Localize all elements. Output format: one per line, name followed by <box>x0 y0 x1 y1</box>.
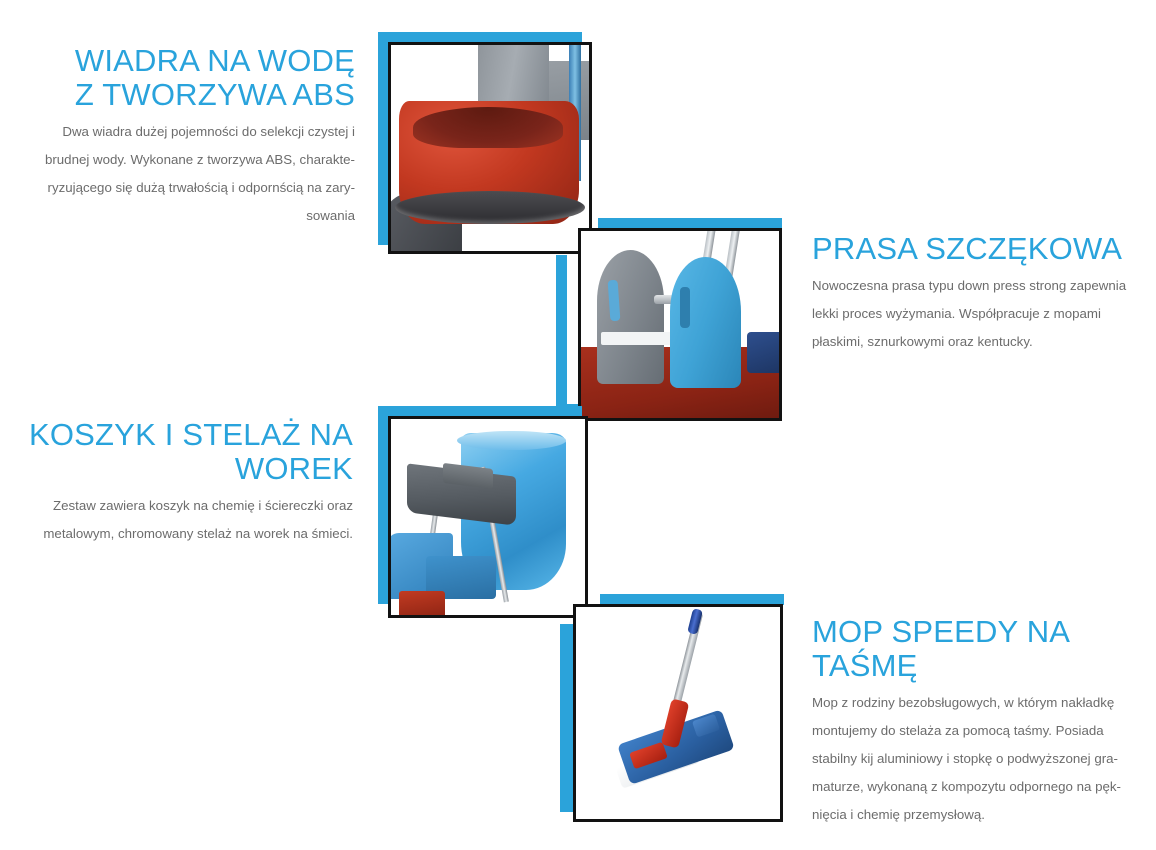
feature-body-press: Nowoczesna prasa typu down press strong … <box>812 272 1152 356</box>
feature-photo-frame-press <box>556 216 788 421</box>
feature-text-buckets: WIADRA NA WODĘ Z TWORZYWA ABS Dwa wiadra… <box>10 44 355 230</box>
feature-photo-frame-basket <box>372 404 594 619</box>
feature-title-press: PRASA SZCZĘKOWA <box>812 232 1152 266</box>
feature-title-buckets: WIADRA NA WODĘ Z TWORZYWA ABS <box>10 44 355 112</box>
press-grey-jaw <box>597 250 664 385</box>
feature-title-mop: MOP SPEEDY NA TAŚMĘ <box>812 615 1152 683</box>
feature-title-basket: KOSZYK I STELAŻ NA WOREK <box>8 418 353 486</box>
feature-body-basket: Zestaw zawiera koszyk na chemię i ściere… <box>8 492 353 548</box>
press-white-bar <box>601 332 680 345</box>
accent-bar-left <box>560 624 574 812</box>
feature-grid: WIADRA NA WODĘ Z TWORZYWA ABS Dwa wiadra… <box>0 0 1156 850</box>
feature-text-basket: KOSZYK I STELAŻ NA WOREK Zestaw zawiera … <box>8 418 353 548</box>
photo-speedy-tape-mop <box>573 604 783 822</box>
bucket-red-interior <box>413 107 563 148</box>
press-navy-bucket <box>747 332 782 373</box>
basket-red-bucket <box>399 591 446 618</box>
feature-body-mop: Mop z rodziny bezobsługowych, w którym n… <box>812 689 1152 829</box>
feature-text-press: PRASA SZCZĘKOWA Nowoczesna prasa typu do… <box>812 232 1152 356</box>
basket-bag-rim <box>457 431 566 451</box>
feature-photo-frame-mop <box>560 592 792 824</box>
feature-body-buckets: Dwa wiadra dużej pojemności do selekcji … <box>10 118 355 230</box>
press-blue-slot <box>680 287 690 328</box>
photo-basket-and-bag-frame <box>388 416 588 618</box>
photo-jaw-press <box>578 228 782 421</box>
feature-text-mop: MOP SPEEDY NA TAŚMĘ Mop z rodziny bezobs… <box>812 615 1152 829</box>
accent-bar-left <box>556 255 567 415</box>
